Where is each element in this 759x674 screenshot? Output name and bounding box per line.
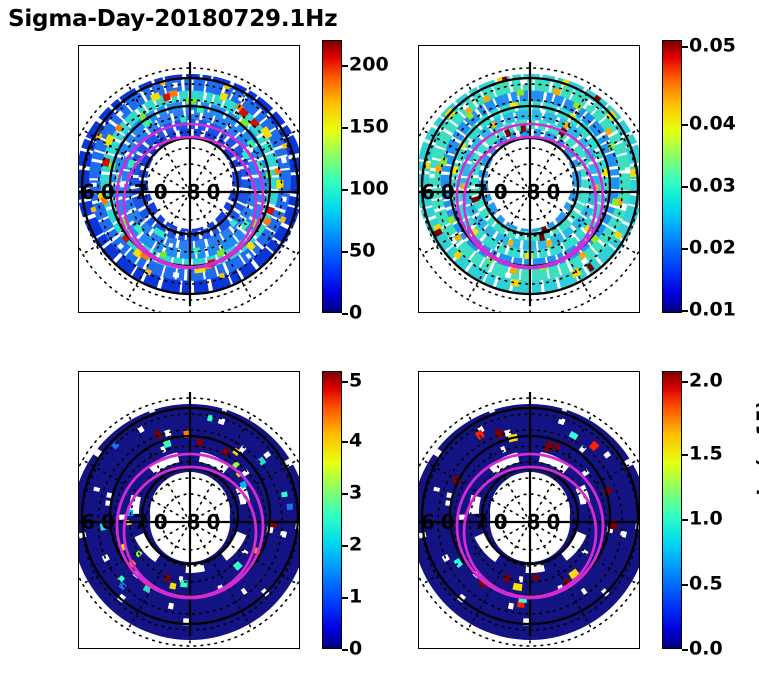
colorbar-mean-sigma-phi: 0.01 0.02 0.03 0.04 0.05 mean σφ <box>662 40 759 313</box>
colorbar-strip-1 <box>662 40 682 313</box>
latitude-tick-labels-3: 60 70 80 <box>421 510 566 534</box>
colorbar-tick-3-0: 0.0 <box>689 640 723 659</box>
latitude-tick-labels-0: 60 70 80 <box>81 180 226 204</box>
colorbar-label-3: occurrence rate (>.15) <box>755 400 759 643</box>
polar-plot-svg-2: 60 70 80 <box>79 372 300 649</box>
sigma-symbol: σ <box>753 165 759 180</box>
figure-canvas: Sigma-Day-20180729.1Hz <box>0 0 759 674</box>
colorbar-tick-0-3: 150 <box>349 118 389 137</box>
colorbar-label-1-prefix: mean <box>753 179 759 245</box>
colorbar-tick-1-1: 0.02 <box>689 239 736 258</box>
colorbar-tick-0-0: 0 <box>349 304 362 323</box>
colorbar-ticks-3: 0.0 0.5 1.0 1.5 2.0 <box>682 371 759 649</box>
colorbar-strip-2 <box>322 371 342 649</box>
figure-title: Sigma-Day-20180729.1Hz <box>8 6 337 32</box>
colorbar-tick-1-3: 0.04 <box>689 115 736 134</box>
colorbar-tick-2-2: 2 <box>349 536 362 555</box>
colorbar-tick-2-1: 1 <box>349 588 362 607</box>
polar-panel-occurrence-rate-01: 60 70 80 <box>78 371 300 649</box>
colorbar-tick-1-0: 0.01 <box>689 301 736 320</box>
colorbar-tick-0-4: 200 <box>349 56 389 75</box>
colorbar-tick-2-5: 5 <box>349 372 362 391</box>
polar-panel-occurrence-rate-015: 60 70 80 <box>418 371 640 649</box>
colorbar-strip-0 <box>322 40 342 313</box>
colorbar-occurrence-rate-01: 0 1 2 3 4 5 occurrence rate (>.1) <box>322 371 432 649</box>
colorbar-tick-0-2: 100 <box>349 180 389 199</box>
polar-panel-mean-sigma-phi: 60 70 80 <box>418 45 640 313</box>
colorbar-label-1: mean σφ <box>755 154 759 245</box>
polar-panel-data-points: 60 70 80 <box>78 45 300 313</box>
colorbar-tick-2-0: 0 <box>349 640 362 659</box>
polar-plot-svg-3: 60 70 80 <box>419 372 640 649</box>
colorbar-tick-3-3: 1.5 <box>689 445 723 464</box>
colorbar-tick-1-2: 0.03 <box>689 177 736 196</box>
colorbar-strip-3 <box>662 371 682 649</box>
polar-plot-svg-0: 60 70 80 <box>79 46 300 313</box>
colorbar-tick-3-4: 2.0 <box>689 372 723 391</box>
colorbar-occurrence-rate-015: 0.0 0.5 1.0 1.5 2.0 occurrence rate (>.1… <box>662 371 759 649</box>
polar-plot-svg-1: 60 70 80 <box>419 46 640 313</box>
colorbar-tick-0-1: 50 <box>349 242 375 261</box>
colorbar-tick-2-4: 4 <box>349 432 362 451</box>
colorbar-tick-3-2: 1.0 <box>689 510 723 529</box>
latitude-tick-labels-1: 60 70 80 <box>421 180 566 204</box>
colorbar-ticks-1: 0.01 0.02 0.03 0.04 0.05 <box>682 40 759 313</box>
colorbar-data-points: 0 50 100 150 200 Data points <box>322 40 432 313</box>
colorbar-tick-3-1: 0.5 <box>689 575 723 594</box>
colorbar-tick-2-3: 3 <box>349 484 362 503</box>
latitude-tick-labels-2: 60 70 80 <box>81 510 226 534</box>
colorbar-tick-1-4: 0.05 <box>689 37 736 56</box>
